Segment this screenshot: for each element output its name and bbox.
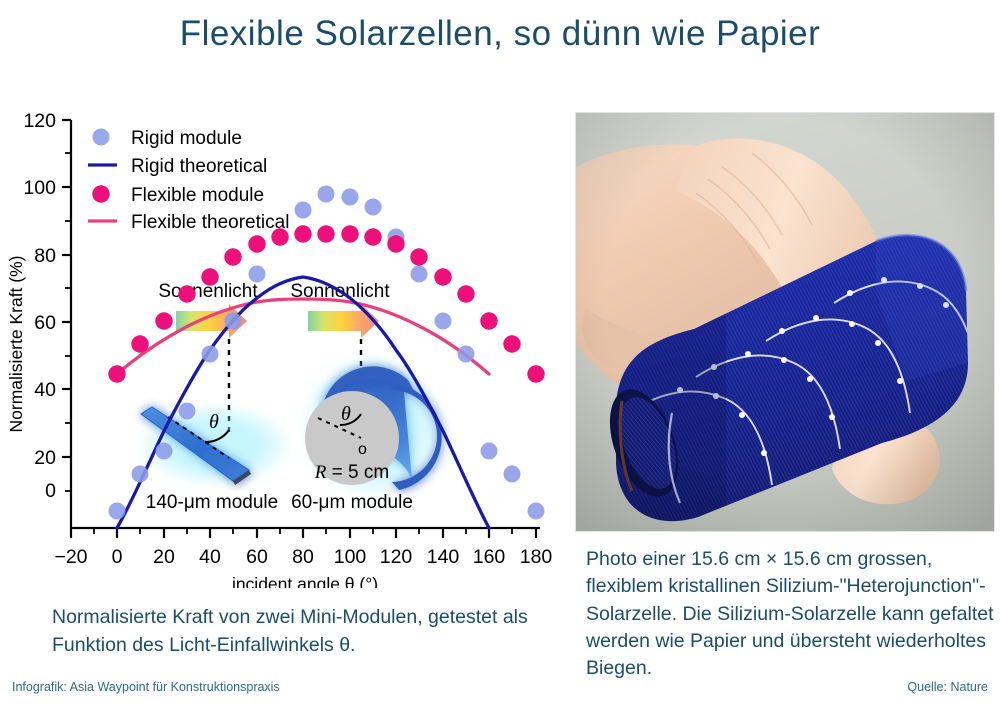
svg-text:40: 40 — [199, 546, 221, 568]
data-point — [108, 365, 125, 382]
data-point — [411, 266, 428, 283]
legend-label-flexible-module: Flexible module — [131, 185, 264, 206]
chart-panel: 120 100 80 60 40 20 0 — [0, 108, 568, 588]
data-point — [156, 443, 173, 460]
legend-label-flexible-theoretical: Flexible theoretical — [131, 212, 289, 233]
module-label-right: 60-μm module — [291, 492, 413, 513]
svg-text:100: 100 — [334, 546, 367, 568]
data-point — [481, 443, 498, 460]
data-point — [435, 313, 452, 330]
data-point — [178, 285, 195, 302]
data-point — [295, 202, 312, 219]
svg-text:0: 0 — [112, 546, 123, 568]
x-axis-label: incident angle θ (°) — [232, 574, 378, 588]
photo-vignette — [576, 113, 994, 531]
data-point — [410, 248, 427, 265]
credit-left: Infografik: Asia Waypoint für Konstrukti… — [12, 680, 280, 694]
y-axis-major-ticks — [62, 120, 71, 491]
svg-text:180: 180 — [520, 546, 553, 568]
svg-text:0: 0 — [45, 480, 56, 502]
legend-marker-flexible-module — [92, 185, 109, 202]
svg-text:−20: −20 — [54, 546, 87, 568]
solar-cell-photo — [575, 112, 995, 532]
data-point — [132, 466, 149, 483]
svg-text:80: 80 — [292, 546, 314, 568]
svg-text:60: 60 — [34, 312, 56, 334]
data-point — [528, 503, 545, 520]
svg-text:20: 20 — [34, 447, 56, 469]
data-point — [365, 199, 382, 216]
svg-text:100: 100 — [23, 177, 56, 199]
data-point — [434, 268, 451, 285]
normalized-power-chart: 120 100 80 60 40 20 0 — [0, 108, 568, 588]
legend-label-rigid-module: Rigid module — [131, 128, 242, 149]
flexible-theoretical-line — [117, 299, 489, 374]
y-axis-tick-labels: 120 100 80 60 40 20 0 — [23, 110, 56, 502]
svg-text:140: 140 — [427, 546, 460, 568]
data-point — [364, 228, 381, 245]
data-point — [202, 346, 219, 363]
data-point — [457, 285, 474, 302]
data-point — [155, 312, 172, 329]
legend-label-rigid-theoretical: Rigid theoretical — [131, 156, 267, 177]
radius-label-right: R = 5 cm — [314, 462, 389, 483]
data-point — [318, 186, 335, 203]
data-point — [224, 248, 241, 265]
data-point — [131, 335, 148, 352]
chart-legend: Rigid module Rigid theoretical Flexible … — [88, 128, 289, 233]
data-point — [387, 235, 404, 252]
data-point — [341, 225, 358, 242]
sun-arrow-right — [308, 304, 379, 338]
data-point — [458, 346, 475, 363]
data-point — [225, 313, 242, 330]
photo-caption: Photo einer 15.6 cm × 15.6 cm grossen, f… — [586, 546, 994, 682]
flexible-module-points — [108, 225, 544, 382]
data-point — [503, 335, 520, 352]
data-point — [480, 312, 497, 329]
photo-illustration — [576, 113, 994, 531]
data-point — [342, 189, 359, 206]
svg-text:60: 60 — [246, 546, 268, 568]
data-point — [504, 466, 521, 483]
data-point — [294, 225, 311, 242]
data-point — [317, 225, 334, 242]
svg-text:20: 20 — [153, 546, 175, 568]
data-point — [527, 365, 544, 382]
svg-text:160: 160 — [473, 546, 506, 568]
page-title: Flexible Solarzellen, so dünn wie Papier — [0, 14, 1000, 54]
data-point — [248, 235, 265, 252]
legend-marker-rigid-module — [93, 129, 110, 146]
data-point — [109, 503, 126, 520]
svg-text:80: 80 — [34, 245, 56, 267]
data-point — [201, 268, 218, 285]
svg-text:40: 40 — [34, 379, 56, 401]
data-point — [179, 403, 196, 420]
svg-text:120: 120 — [380, 546, 413, 568]
theta-label-right: θ — [341, 403, 351, 425]
module-label-left: 140-μm module — [146, 492, 278, 513]
svg-text:120: 120 — [23, 110, 56, 132]
origin-label-right: o — [358, 441, 367, 458]
theta-label-left: θ — [209, 411, 219, 433]
credit-right: Quelle: Nature — [907, 680, 988, 694]
chart-caption: Normalisierte Kraft von zwei Mini-Module… — [52, 604, 562, 659]
data-point — [249, 266, 266, 283]
x-axis-tick-labels: −20 0 20 40 60 80 100 120 140 160 180 — [54, 546, 552, 568]
y-axis-label: Normalisierte Kraft (%) — [6, 256, 26, 433]
